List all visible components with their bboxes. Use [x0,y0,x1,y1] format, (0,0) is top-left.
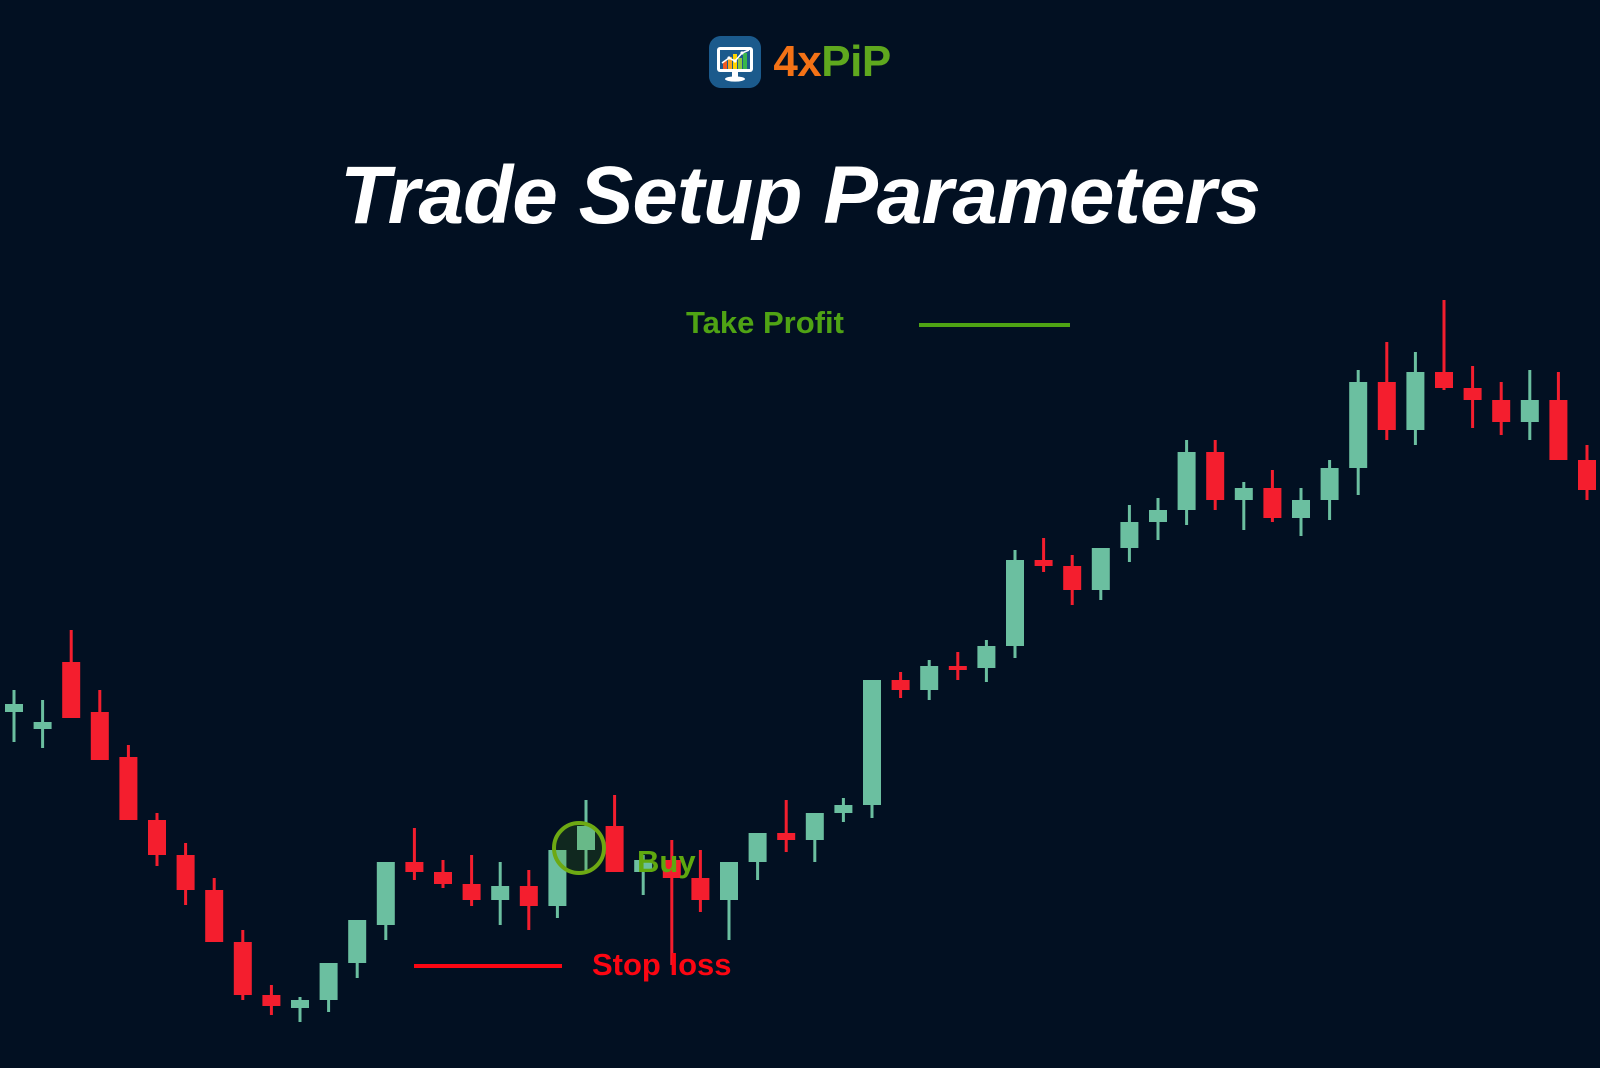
brand-wordmark-prefix: 4x [773,37,821,86]
candle-body [520,886,538,906]
candle-body [863,680,881,805]
monitor-chart-icon [709,36,761,88]
candle-body [405,862,423,872]
buy-label: Buy [637,846,696,877]
stop-loss-line [414,964,562,968]
brand-wordmark: 4xPiP [773,40,890,84]
candle-body [1578,460,1596,490]
candle-body [291,1000,309,1008]
candle-body [806,813,824,840]
candle-body [1549,400,1567,460]
candle-body [949,666,967,670]
candle-body [177,855,195,890]
candle-body [377,862,395,925]
candle-body [491,886,509,900]
candle-body [234,942,252,995]
page-title: Trade Setup Parameters [0,155,1600,237]
candle-body [1263,488,1281,518]
candle-body [148,820,166,855]
candle-body [5,704,23,712]
candle-body [834,805,852,813]
candle-body [434,872,452,884]
candle-body [91,712,109,760]
candle-body [1292,500,1310,518]
candle-body [720,862,738,900]
candle-body [920,666,938,690]
candle-body [262,995,280,1006]
candle-body [1235,488,1253,500]
candle-wick [13,690,16,742]
candle-body [749,833,767,862]
candle-body [1406,372,1424,430]
candle-body [1149,510,1167,522]
candle-body [1378,382,1396,430]
candle-body [205,890,223,942]
candle-body [348,920,366,963]
candle-body [62,662,80,718]
candle-body [777,833,795,840]
candle-wick [785,800,788,852]
candle-body [34,722,52,729]
candle-body [1206,452,1224,500]
candle-body [1120,522,1138,548]
candle-body [1435,372,1453,388]
candle-body [1349,382,1367,468]
candle-body [1492,400,1510,422]
take-profit-line [919,323,1070,327]
brand-wordmark-suffix: PiP [821,37,890,86]
candle-wick [1042,538,1045,572]
candle-body [1092,548,1110,590]
candle-body [977,646,995,668]
take-profit-label: Take Profit [686,307,844,338]
buy-entry-marker-icon [552,821,606,875]
candle-body [320,963,338,1000]
trade-setup-infographic: 4xPiP Trade Setup Parameters Take Profit… [0,0,1600,1068]
candle-wick [413,828,416,880]
candle-body [1521,400,1539,422]
candle-body [1178,452,1196,510]
candle-body [119,757,137,820]
candle-body [892,680,910,690]
candle-body [1006,560,1024,646]
candle-body [1321,468,1339,500]
brand-header: 4xPiP [0,36,1600,88]
candle-body [463,884,481,900]
candle-body [606,826,624,872]
candle-body [691,878,709,900]
candle-body [1035,560,1053,566]
candle-body [1464,388,1482,400]
candle-body [1063,566,1081,590]
stop-loss-label: Stop loss [592,949,732,980]
